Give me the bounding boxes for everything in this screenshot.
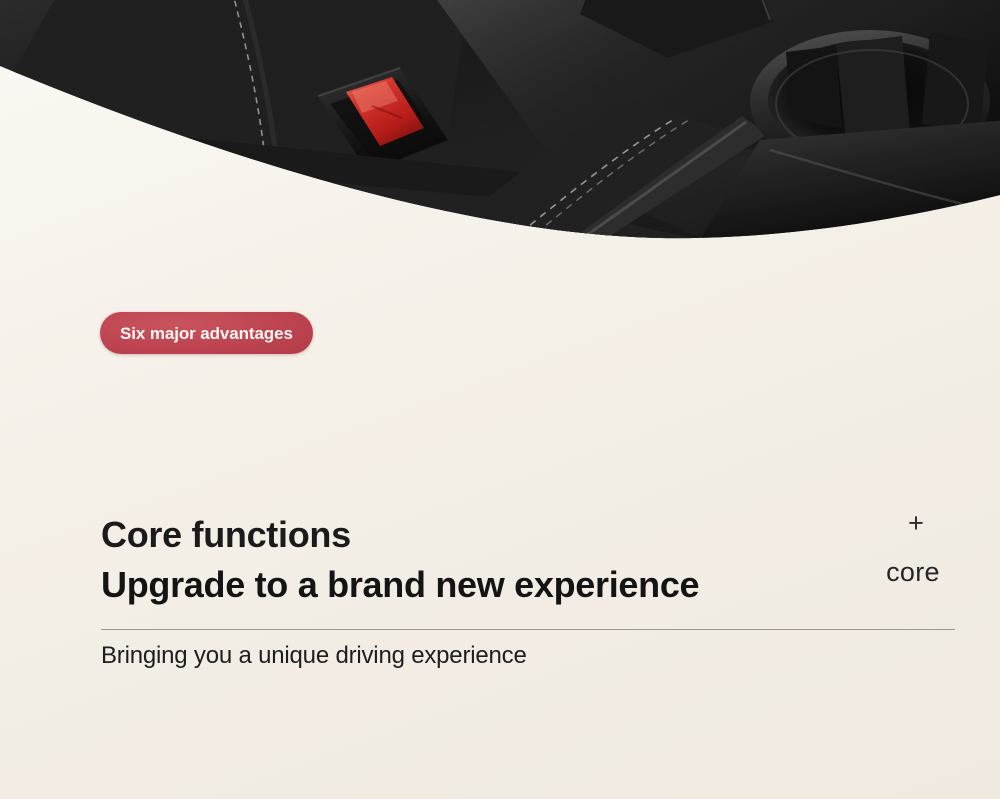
hero-image-car-interior bbox=[0, 0, 1000, 250]
hero-vignette bbox=[0, 0, 1000, 250]
page-title-line-1: Core functions bbox=[101, 514, 891, 556]
core-label: core bbox=[886, 559, 940, 586]
plus-icon: + bbox=[908, 510, 924, 537]
page-title-line-2: Upgrade to a brand new experience bbox=[101, 564, 891, 606]
headings-block: Core functions Upgrade to a brand new ex… bbox=[101, 514, 891, 607]
heading-divider bbox=[101, 629, 955, 630]
core-mark: + core bbox=[855, 510, 971, 586]
six-major-advantages-badge[interactable]: Six major advantages bbox=[100, 312, 313, 354]
page-subtitle: Bringing you a unique driving experience bbox=[101, 642, 527, 670]
promo-banner-page: Six major advantages Core functions Upgr… bbox=[0, 0, 1000, 799]
car-interior-illustration bbox=[0, 0, 1000, 250]
badge-label: Six major advantages bbox=[120, 325, 293, 342]
